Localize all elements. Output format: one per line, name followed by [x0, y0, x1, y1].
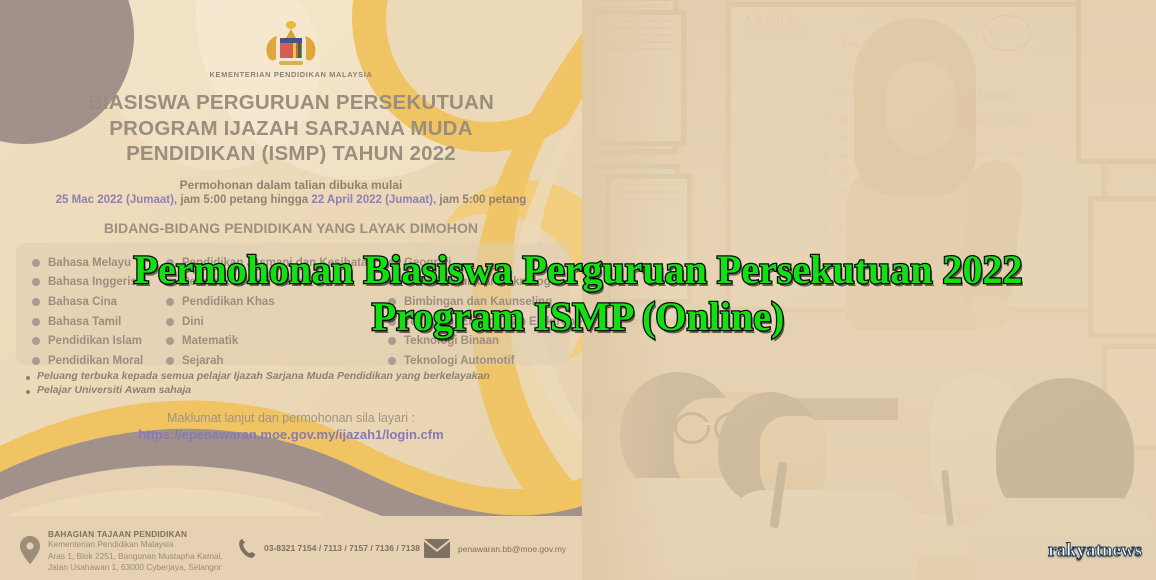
- more-info-label: Maklumat lanjut dan permohonan sila laya…: [0, 411, 582, 425]
- student-3-uniform: [970, 498, 1156, 580]
- application-open-label: Permohonan dalam talian dibuka mulai: [0, 178, 582, 192]
- bullet-dot-icon: [166, 318, 174, 326]
- poster-banner: A B C D E 1/2 1/3 1/4 1/5 Bang __ ulangi…: [0, 0, 1156, 580]
- date-start: 25 Mac 2022 (Jumaat),: [56, 194, 177, 206]
- field-label: Dini: [182, 316, 204, 328]
- headline-line-3: PENDIDIKAN (ISMP) TAHUN 2022: [0, 141, 582, 167]
- fields-column-2: Pendidikan Jasmani dan Kesihatan Pendidi…: [166, 253, 406, 371]
- list-item: Teknologi Elektrik dan Elektronik: [388, 312, 574, 332]
- application-period: 25 Mac 2022 (Jumaat), jam 5:00 petang hi…: [0, 194, 582, 206]
- field-label: Pendidikan Islam: [48, 335, 142, 347]
- fields-section-title: BIDANG-BIDANG PENDIDIKAN YANG LAYAK DIMO…: [0, 220, 582, 236]
- field-label: Bahasa Melayu: [48, 257, 131, 269]
- field-label: Pendidikan Khas: [182, 296, 275, 308]
- field-label: Pendidikan Moral: [48, 355, 143, 367]
- fields-column-1: Bahasa Melayu Bahasa Inggeris Bahasa Cin…: [32, 253, 182, 371]
- bullet-dot-icon: [26, 390, 30, 394]
- whiteboard-circle-mark: [983, 15, 1031, 51]
- footer-address: BAHAGIAN TAJAAN PENDIDIKAN Kementerian P…: [48, 529, 223, 574]
- malaysia-coat-of-arms-icon: [249, 16, 333, 70]
- footer-email-block: penawaran.bb@moe.gov.my: [424, 539, 566, 558]
- field-label: Teknologi Binaan: [404, 335, 499, 347]
- list-item: Pendidikan Islam: [32, 331, 182, 351]
- wall-frame-right-1: [1076, 0, 1156, 164]
- list-item: Bahasa Inggeris: [32, 273, 182, 293]
- bullet-dot-icon: [388, 337, 396, 345]
- field-label: Reka Bentuk dan Teknologi: [404, 276, 554, 288]
- field-label: Bahasa Cina: [48, 296, 117, 308]
- page-title: BIASISWA PERGURUAN PERSEKUTUAN PROGRAM I…: [0, 90, 582, 167]
- application-url[interactable]: https://epenawaran.moe.gov.my/ijazah1/lo…: [0, 427, 582, 442]
- bullet-dot-icon: [32, 357, 40, 365]
- teacher-face: [886, 62, 956, 154]
- field-label: Pendidikan Seni Visual: [182, 276, 308, 288]
- bullet-dot-icon: [166, 278, 174, 286]
- list-item: Matematik: [166, 331, 406, 351]
- date-join: hingga: [270, 194, 308, 206]
- time-start: jam 5:00 petang: [180, 194, 267, 206]
- list-item: Pendidikan Moral: [32, 351, 182, 371]
- list-item: Bahasa Cina: [32, 292, 182, 312]
- list-item: Geografi: [388, 253, 574, 273]
- note-item: Peluang terbuka kepada semua pelajar Ija…: [26, 370, 566, 382]
- footer-addr-2: Aras 1, Blok 2251, Bangunan Mustapha Kam…: [48, 551, 223, 563]
- poster-footer: BAHAGIAN TAJAAN PENDIDIKAN Kementerian P…: [0, 516, 582, 580]
- list-item: Teknologi Binaan: [388, 331, 574, 351]
- list-item: Sejarah: [166, 351, 406, 371]
- fields-list-box: Bahasa Melayu Bahasa Inggeris Bahasa Cin…: [16, 243, 570, 365]
- bullet-dot-icon: [388, 298, 396, 306]
- bullet-dot-icon: [388, 278, 396, 286]
- ministry-label: KEMENTERIAN PENDIDIKAN MALAYSIA: [210, 70, 373, 79]
- bullet-dot-icon: [32, 337, 40, 345]
- bullet-dot-icon: [388, 318, 396, 326]
- time-end: jam 5:00 petang: [439, 194, 526, 206]
- note-text: Pelajar Universiti Awam sahaja: [37, 384, 191, 396]
- eligibility-notes: Peluang terbuka kepada semua pelajar Ija…: [26, 370, 566, 398]
- footer-email: penawaran.bb@moe.gov.my: [458, 544, 566, 554]
- list-item: Dini: [166, 312, 406, 332]
- headline-line-1: BIASISWA PERGURUAN PERSEKUTUAN: [0, 90, 582, 116]
- footer-phone-block: 03-8321 7154 / 7113 / 7157 / 7136 / 7138: [238, 538, 420, 558]
- fields-column-3: Geografi Reka Bentuk dan Teknologi Bimbi…: [388, 253, 574, 371]
- wall-poster-4: [606, 174, 692, 304]
- footer-addr-3: Jalan Usahawan 1, 63000 Cyberjaya, Selan…: [48, 562, 223, 574]
- field-label: Bimbingan dan Kaunseling: [404, 296, 552, 308]
- field-label: Bahasa Tamil: [48, 316, 121, 328]
- note-text: Peluang terbuka kepada semua pelajar Ija…: [37, 370, 490, 382]
- student-2-uniform: [728, 490, 918, 580]
- location-pin-icon: [20, 536, 40, 564]
- field-label: Sejarah: [182, 355, 224, 367]
- list-item: Bimbingan dan Kaunseling: [388, 292, 574, 312]
- bullet-dot-icon: [166, 337, 174, 345]
- wall-frame-right-2: [1088, 196, 1156, 338]
- bullet-dot-icon: [32, 259, 40, 267]
- field-label: Teknologi Automotif: [404, 355, 515, 367]
- poster-panel: KEMENTERIAN PENDIDIKAN MALAYSIA BIASISWA…: [0, 0, 582, 580]
- bullet-dot-icon: [388, 357, 396, 365]
- footer-org: BAHAGIAN TAJAAN PENDIDIKAN: [48, 529, 223, 539]
- classroom-photo: A B C D E 1/2 1/3 1/4 1/5 Bang __ ulangi…: [578, 0, 1156, 580]
- footer-addr-1: Kementerian Pendidikan Malaysia: [48, 539, 223, 551]
- phone-icon: [238, 538, 256, 558]
- wall-poster-2: [592, 10, 686, 146]
- field-label: Teknologi Elektrik dan Elektronik: [404, 316, 582, 328]
- field-label: Geografi: [404, 257, 451, 269]
- headline-line-2: PROGRAM IJAZAH SARJANA MUDA: [0, 116, 582, 142]
- bullet-dot-icon: [32, 298, 40, 306]
- bullet-dot-icon: [388, 259, 396, 267]
- field-label: Matematik: [182, 335, 238, 347]
- teacher-hand: [970, 296, 1010, 328]
- bullet-dot-icon: [32, 318, 40, 326]
- date-end: 22 April 2022 (Jumaat),: [311, 194, 436, 206]
- list-item: Teknologi Automotif: [388, 351, 574, 371]
- list-item: Bahasa Melayu: [32, 253, 182, 273]
- note-item: Pelajar Universiti Awam sahaja: [26, 384, 566, 396]
- footer-phone: 03-8321 7154 / 7113 / 7157 / 7136 / 7138: [264, 543, 420, 553]
- bullet-dot-icon: [26, 376, 30, 380]
- list-item: Reka Bentuk dan Teknologi: [388, 273, 574, 293]
- bullet-dot-icon: [166, 357, 174, 365]
- list-item: Bahasa Tamil: [32, 312, 182, 332]
- list-item: Pendidikan Seni Visual: [166, 273, 406, 293]
- envelope-icon: [424, 539, 450, 558]
- list-item: Pendidikan Khas: [166, 292, 406, 312]
- list-item: Pendidikan Jasmani dan Kesihatan: [166, 253, 406, 273]
- bullet-dot-icon: [166, 298, 174, 306]
- field-label: Pendidikan Jasmani dan Kesihatan: [182, 257, 374, 269]
- bullet-dot-icon: [166, 259, 174, 267]
- bullet-dot-icon: [32, 278, 40, 286]
- field-label: Bahasa Inggeris: [48, 276, 137, 288]
